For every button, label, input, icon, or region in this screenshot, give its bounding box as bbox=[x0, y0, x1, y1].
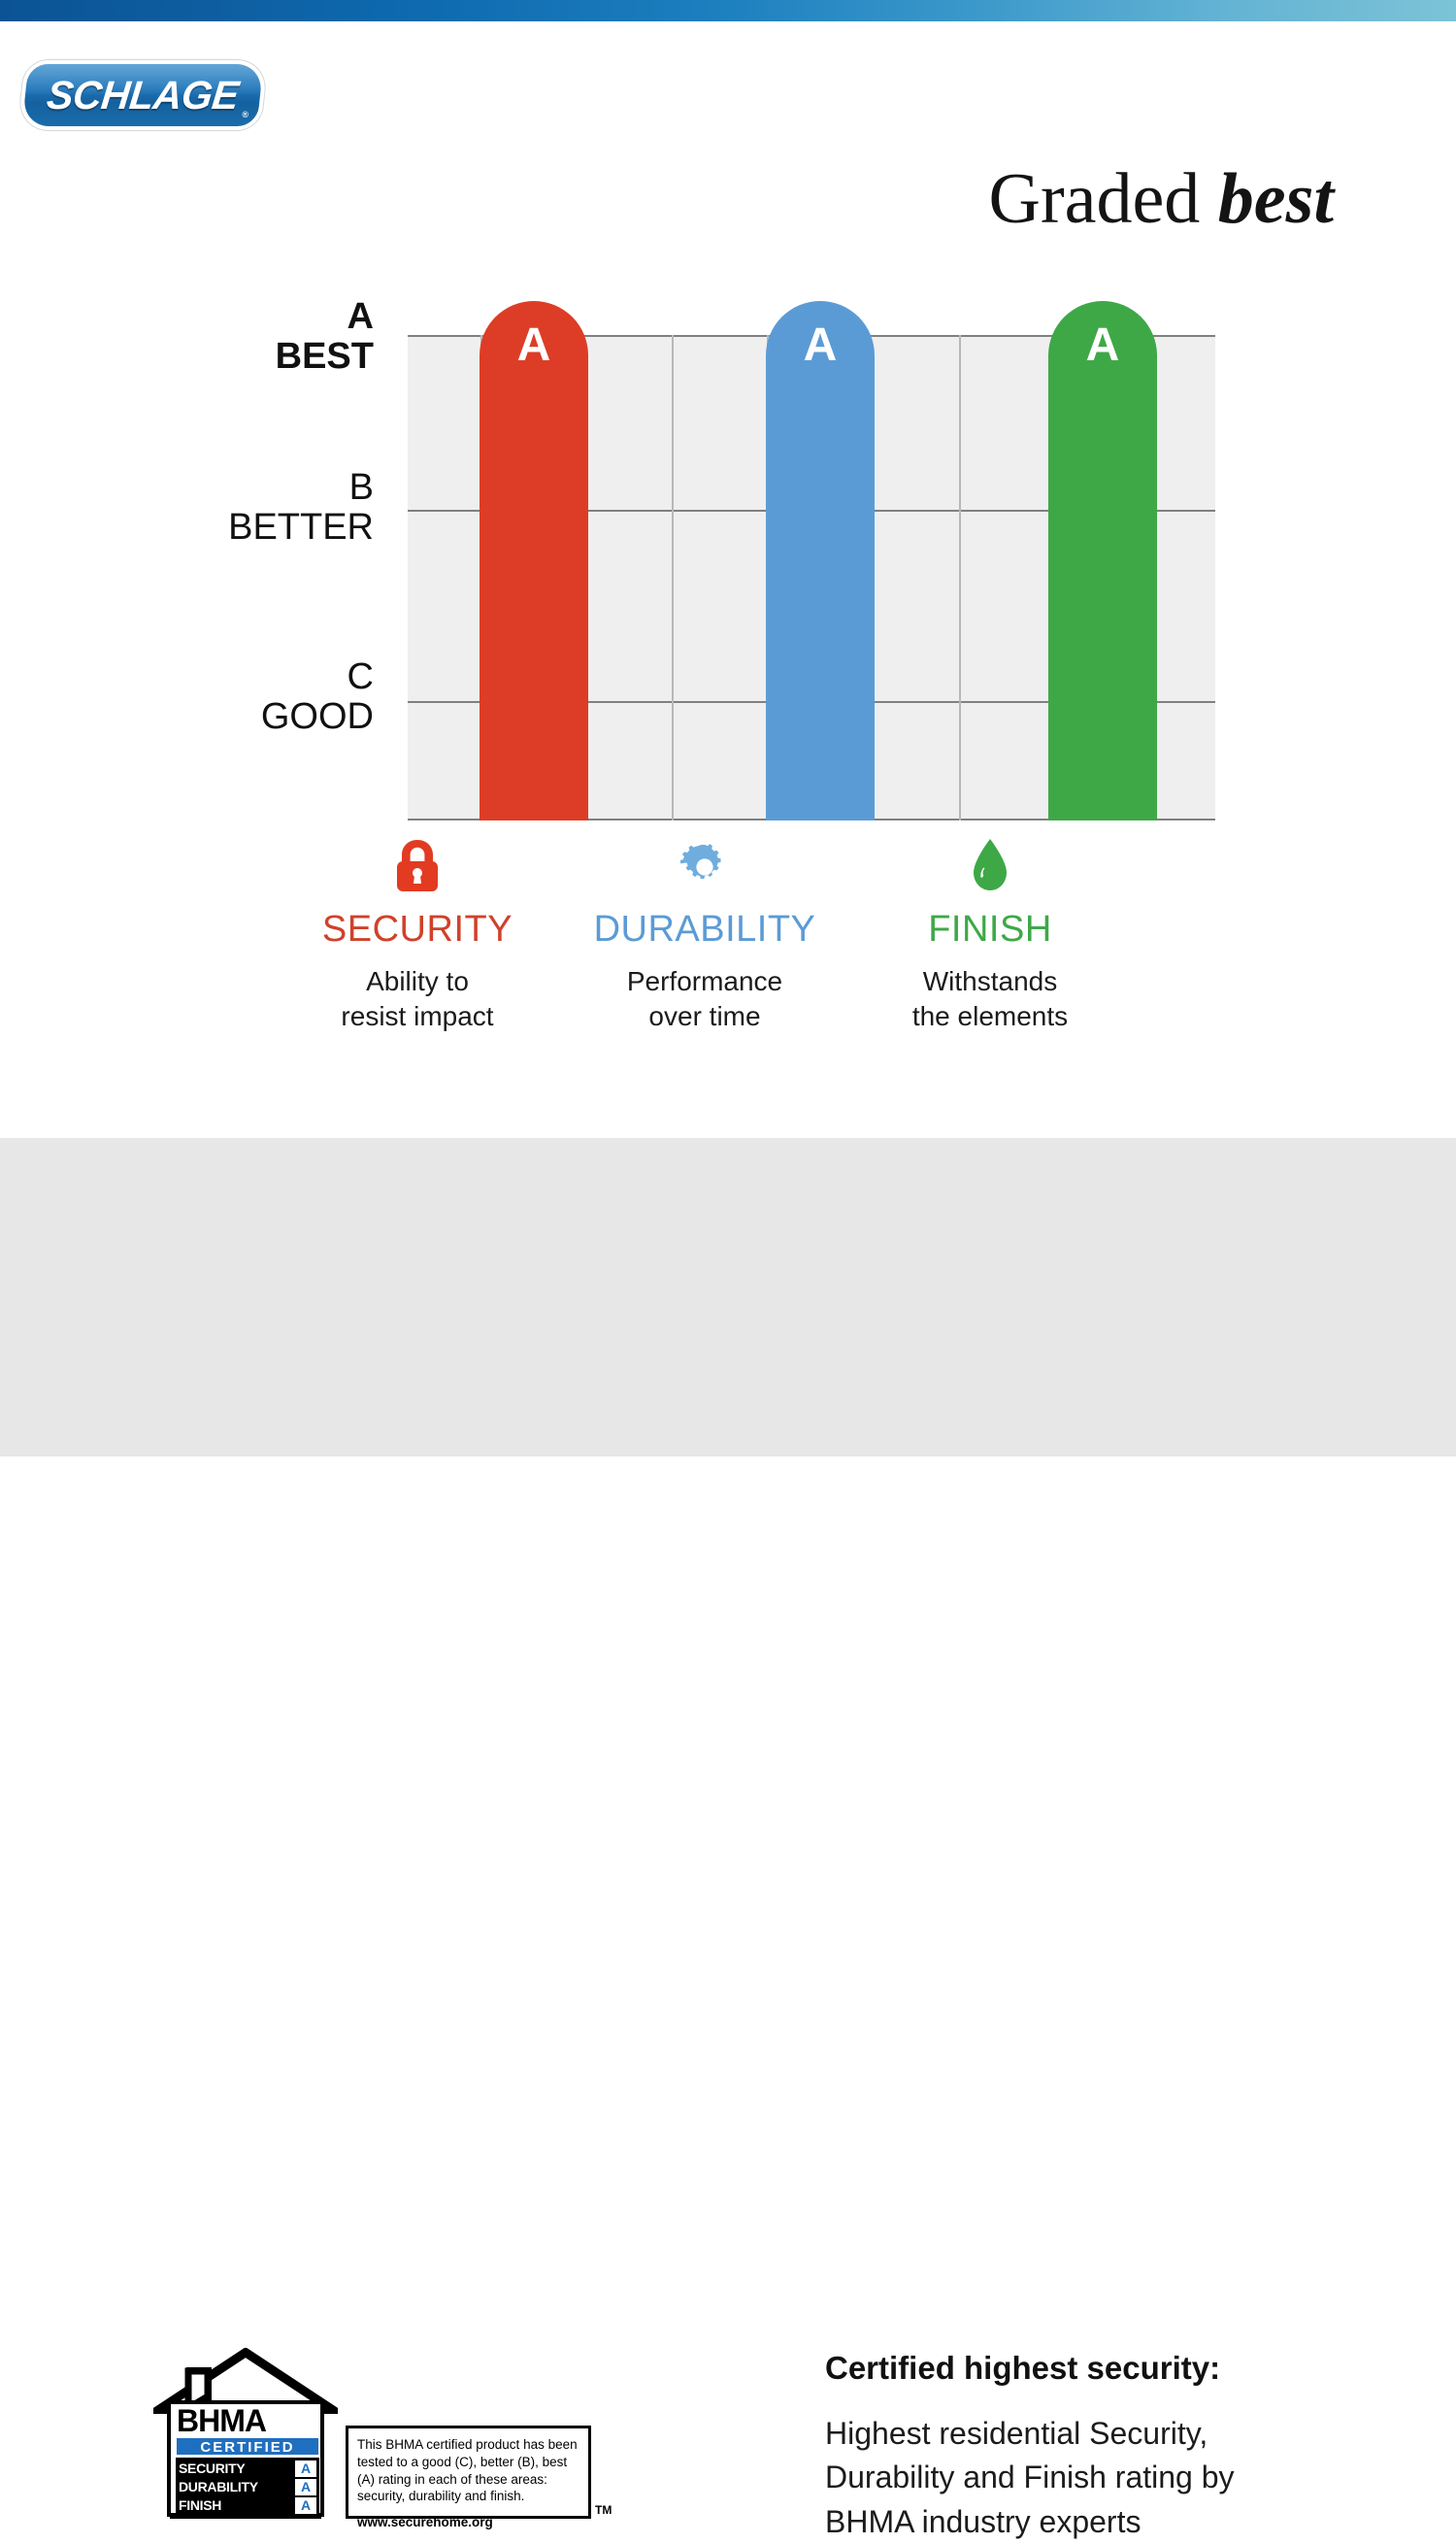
bhma-grade-rows: SECURITY A DURABILITY A FINISH A bbox=[176, 2458, 319, 2515]
category-desc-finish: Withstands the elements bbox=[854, 964, 1126, 1034]
category-title-security: SECURITY bbox=[281, 909, 553, 951]
bhma-certified-badge: BHMA CERTIFIED SECURITY A DURABILITY A F… bbox=[153, 2348, 610, 2523]
bhma-panel: BHMA CERTIFIED SECURITY A DURABILITY A F… bbox=[167, 2400, 324, 2517]
y-axis-label-a: A BEST bbox=[276, 297, 374, 377]
certification-body: Highest residential Security, Durability… bbox=[825, 2412, 1369, 2544]
category-title-finish: FINISH bbox=[854, 909, 1126, 951]
bhma-label-security: SECURITY bbox=[179, 2460, 245, 2476]
category-desc-durability: Performance over time bbox=[569, 964, 841, 1034]
bhma-note-box: This BHMA certified product has been tes… bbox=[346, 2426, 591, 2519]
certification-heading: Certified highest security: bbox=[825, 2350, 1369, 2387]
bhma-label-finish: FINISH bbox=[179, 2497, 221, 2513]
category-title-durability: DURABILITY bbox=[569, 909, 841, 951]
category-legend: SECURITY Ability to resist impact DURABI… bbox=[408, 837, 1215, 1060]
bhma-row-security: SECURITY A bbox=[179, 2460, 316, 2477]
bhma-url: www.securehome.org bbox=[357, 2514, 579, 2531]
bhma-label-durability: DURABILITY bbox=[179, 2479, 258, 2494]
category-desc-security: Ability to resist impact bbox=[281, 964, 553, 1034]
category-durability: DURABILITY Performance over time bbox=[569, 837, 841, 1034]
bar-security: A bbox=[480, 301, 588, 820]
y-axis-grade-a: A bbox=[276, 297, 374, 337]
y-axis-label-b: B BETTER bbox=[228, 468, 374, 548]
bhma-grade-finish: A bbox=[295, 2497, 316, 2514]
category-security: SECURITY Ability to resist impact bbox=[281, 837, 553, 1034]
bhma-row-finish: FINISH A bbox=[179, 2496, 316, 2514]
y-axis-grade-c: C bbox=[261, 657, 374, 697]
padlock-icon bbox=[281, 837, 553, 893]
bhma-trademark-icon: TM bbox=[595, 2503, 612, 2517]
certification-copy: Certified highest security: Highest resi… bbox=[825, 2350, 1369, 2544]
bar-finish: A bbox=[1048, 301, 1157, 820]
category-finish: FINISH Withstands the elements bbox=[854, 837, 1126, 1034]
y-axis-word-good: GOOD bbox=[261, 697, 374, 737]
bhma-wordmark: BHMA bbox=[177, 2405, 320, 2436]
bhma-grade-durability: A bbox=[295, 2479, 316, 2495]
y-axis-word-best: BEST bbox=[276, 337, 374, 377]
bhma-note-text: This BHMA certified product has been tes… bbox=[357, 2436, 579, 2505]
bhma-certified-band: CERTIFIED bbox=[176, 2437, 319, 2456]
bar-grade-durability: A bbox=[766, 318, 875, 372]
bar-grade-finish: A bbox=[1048, 318, 1157, 372]
y-axis-grade-b: B bbox=[228, 468, 374, 508]
column-divider-4 bbox=[959, 335, 961, 820]
bhma-row-durability: DURABILITY A bbox=[179, 2478, 316, 2495]
water-drop-icon bbox=[854, 837, 1126, 893]
column-divider-2 bbox=[672, 335, 674, 820]
y-axis-label-c: C GOOD bbox=[261, 657, 374, 737]
bar-grade-security: A bbox=[480, 318, 588, 372]
y-axis-word-better: BETTER bbox=[228, 508, 374, 548]
bottom-panel: BHMA CERTIFIED SECURITY A DURABILITY A F… bbox=[0, 1138, 1456, 1456]
gear-icon bbox=[569, 837, 841, 893]
bhma-grade-security: A bbox=[295, 2460, 316, 2477]
grade-chart: A BEST B BETTER C GOOD A A A bbox=[0, 0, 1456, 1126]
bar-durability: A bbox=[766, 301, 875, 820]
